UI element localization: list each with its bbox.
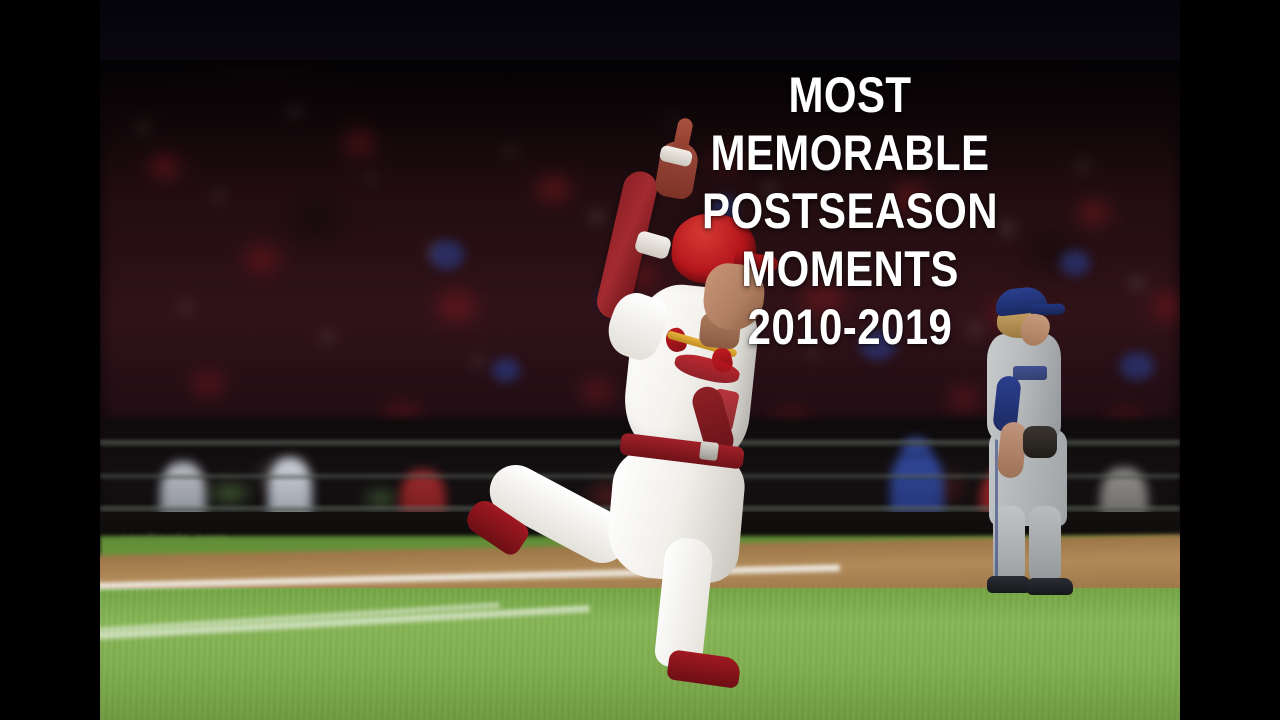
pitcher-leg — [1029, 506, 1061, 584]
title-line-2: MEMORABLE — [690, 124, 1009, 182]
pitcher-shoe — [987, 576, 1031, 593]
rangers-wordmark — [1013, 366, 1047, 380]
letterbox-right — [1180, 0, 1280, 720]
title-line-1: MOST — [690, 66, 1009, 124]
letterbox-left — [0, 0, 100, 720]
pitcher-shoe — [1027, 578, 1073, 595]
overlay-title: MOST MEMORABLE POSTSEASON MOMENTS 2010-2… — [660, 66, 1040, 356]
title-line-5: 2010-2019 — [690, 298, 1009, 356]
title-line-3: POSTSEASON — [690, 182, 1009, 240]
blue-fan-speck — [1060, 250, 1090, 276]
video-thumbnail: cardinals.com — [0, 0, 1280, 720]
title-line-4: MOMENTS — [690, 240, 1009, 298]
blue-fan-speck — [430, 240, 464, 270]
blue-fan-speck — [1120, 352, 1154, 380]
pitcher-glove — [1023, 426, 1057, 458]
runner-belt-buckle — [699, 441, 719, 461]
